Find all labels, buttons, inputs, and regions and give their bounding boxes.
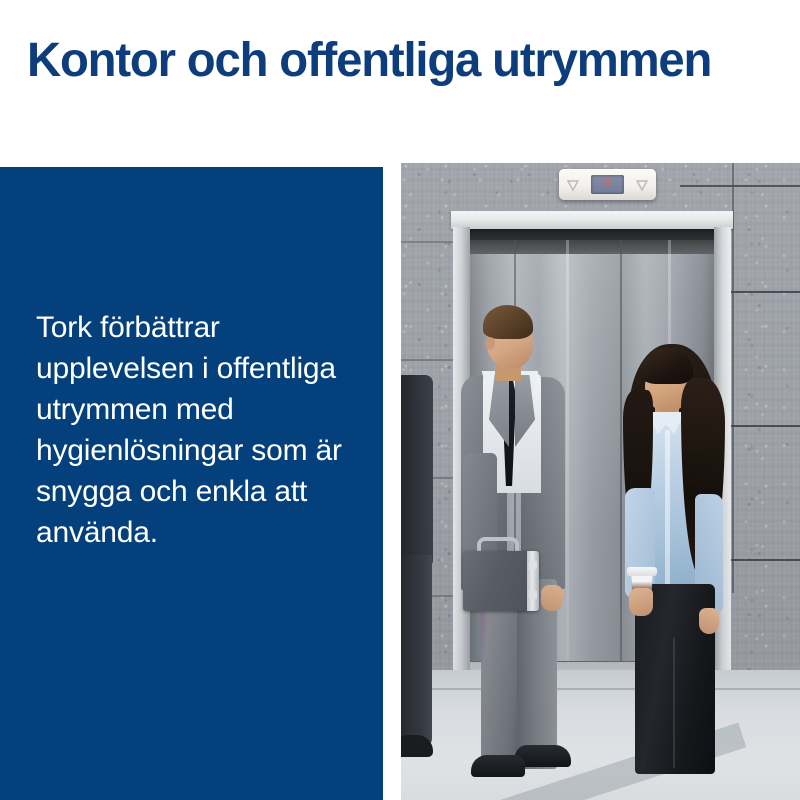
elevator-floor-display: 3 — [591, 175, 624, 194]
intro-body-text: Tork förbättrar upplevelsen i offentliga… — [36, 307, 366, 554]
coffee-cup-lid — [627, 567, 657, 576]
hero-photo: 3 — [401, 163, 800, 800]
briefcase-rim — [527, 551, 539, 611]
elevator-floor-number: 3 — [604, 179, 611, 190]
door-lintel — [451, 211, 733, 229]
cab-ceiling-shadow — [470, 240, 714, 254]
businessman-figure — [459, 303, 589, 763]
briefcase-latch-top — [529, 561, 537, 569]
woman-hand-left — [629, 588, 653, 616]
briefcase-latch-bottom — [529, 591, 537, 599]
down-arrow-icon — [566, 178, 580, 192]
elevator-indicator-panel[interactable]: 3 — [559, 169, 656, 200]
bystander-figure — [401, 375, 437, 775]
businesswoman-figure — [619, 338, 739, 768]
page-title: Kontor och offentliga utrymmen — [27, 36, 711, 86]
briefcase — [463, 535, 539, 611]
title-bar: Kontor och offentliga utrymmen — [0, 0, 800, 167]
woman-blouse-placket — [665, 430, 670, 588]
man-ear — [485, 337, 495, 350]
man-shoe-left — [471, 755, 525, 777]
man-hand-left — [541, 585, 563, 611]
bystander-leg — [401, 555, 432, 745]
up-arrow-icon — [635, 178, 649, 192]
intro-text-panel: Tork förbättrar upplevelsen i offentliga… — [0, 167, 383, 800]
poster-root: Kontor och offentliga utrymmen Tork förb… — [0, 0, 800, 800]
woman-trouser-seam — [673, 638, 675, 768]
bystander-torso — [401, 375, 433, 565]
door-lintel-shadow — [463, 229, 721, 240]
woman-hand-right — [699, 608, 719, 634]
man-hair — [483, 305, 533, 339]
